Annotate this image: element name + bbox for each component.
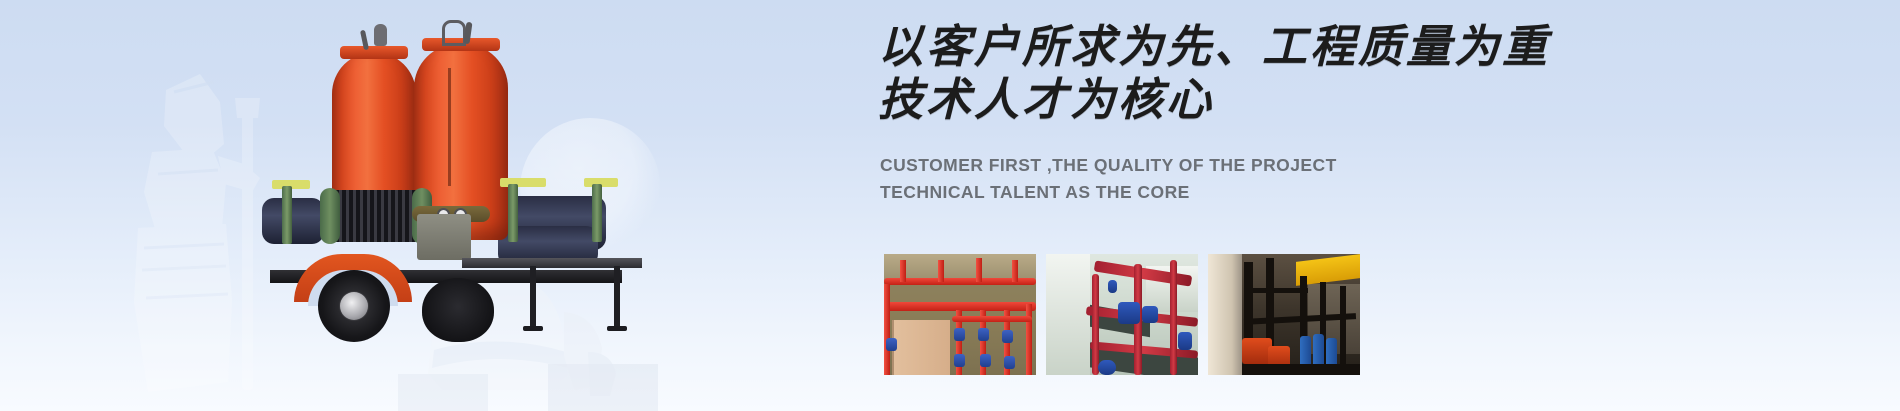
drop-pipe-1 [900, 260, 906, 282]
riser-c [1170, 260, 1177, 375]
air-cylinder-left [262, 198, 324, 244]
gate-valve-2 [978, 328, 989, 341]
floor-shadow [1242, 364, 1360, 375]
hose-reel-disc-left [320, 188, 340, 244]
blue-tank-3 [1326, 338, 1337, 366]
tank-valve-left-b [374, 24, 387, 46]
blue-tank-1 [1300, 336, 1311, 366]
product-photo-fire-pump-trailer [262, 8, 662, 338]
firefighter-watermark-icon [92, 52, 277, 411]
tank-valve-right-a [442, 20, 466, 46]
thumbnail-sprinkler-riser-room[interactable] [884, 254, 1036, 375]
clamp-pad-2 [500, 178, 546, 187]
wall-door [892, 320, 950, 375]
wheel-hub [340, 292, 368, 320]
cylinder-clamp-2 [508, 184, 518, 242]
gate-valve-1 [954, 328, 965, 341]
thumbnail-stairwell-fire-main[interactable] [1046, 254, 1198, 375]
gate-valve-4 [886, 338, 897, 351]
drop-pipe-4 [1012, 260, 1018, 282]
gate-valve-5 [954, 354, 965, 367]
riser-crossover [952, 316, 1032, 322]
support-leg-2 [614, 266, 620, 328]
support-foot-1 [523, 326, 543, 331]
headline-chinese: 以客户所求为先、工程质量为重 技术人才为核心 [878, 20, 1578, 126]
tank-strap [448, 68, 451, 186]
valve-small-1 [1108, 280, 1117, 293]
riser-a [1092, 274, 1099, 375]
drop-pipe-2 [938, 260, 944, 282]
drop-pipe-3 [976, 258, 982, 282]
support-foot-2 [607, 326, 627, 331]
thumbnail-strip [884, 254, 1360, 375]
black-pipe-5 [1340, 286, 1346, 375]
cylinder-clamp-3 [592, 184, 602, 242]
subcopy-english: CUSTOMER FIRST ,THE QUALITY OF THE PROJE… [880, 152, 1337, 205]
blue-tank-2 [1313, 334, 1324, 366]
riser-4 [1026, 304, 1032, 375]
gate-valve-7 [1004, 356, 1015, 369]
tank-cap-left [340, 46, 408, 59]
branch-pipe [1248, 288, 1308, 293]
butterfly-valve [1118, 302, 1140, 324]
pump-housing [417, 214, 471, 260]
thumbnail-boiler-plant-room[interactable] [1208, 254, 1360, 375]
cylinder-clamp-1 [282, 186, 292, 244]
rear-wheel [422, 278, 494, 342]
valve-small-2 [1142, 306, 1158, 323]
handwheel-valve [1098, 360, 1116, 375]
gate-valve-3 [1002, 330, 1013, 343]
gate-valve-6 [980, 354, 991, 367]
concrete-pillar [1208, 254, 1242, 375]
hero-banner: 以客户所求为先、工程质量为重 技术人才为核心 CUSTOMER FIRST ,T… [0, 0, 1900, 411]
riser-0 [884, 284, 890, 375]
hose-reel-drum [328, 190, 420, 242]
left-wall [1046, 254, 1090, 375]
valve-small-3 [1178, 332, 1192, 350]
support-leg-1 [530, 266, 536, 328]
